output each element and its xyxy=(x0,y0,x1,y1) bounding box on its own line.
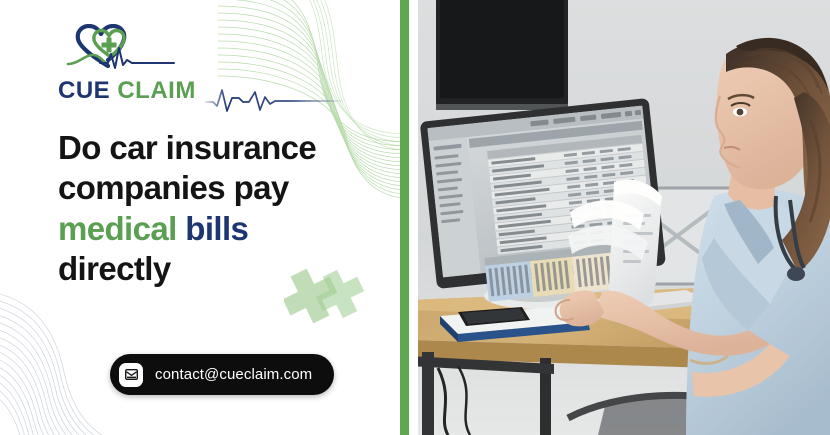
headline-line-1: Do car insurance xyxy=(58,129,316,166)
left-content-panel: CUE CLAIM Do car insurance companies pay… xyxy=(0,0,400,435)
headline-line-2: companies pay xyxy=(58,169,289,206)
green-divider-bar xyxy=(400,0,409,435)
headline: Do car insurance companies pay medical b… xyxy=(58,128,388,289)
headline-highlight-bills: bills xyxy=(185,210,248,247)
contact-email-text: contact@cueclaim.com xyxy=(155,366,312,383)
brand-word-claim: CLAIM xyxy=(117,77,195,104)
envelope-icon xyxy=(119,363,143,387)
heartbeat-line-icon xyxy=(205,80,345,116)
hero-photo xyxy=(418,0,830,435)
headline-line-4: directly xyxy=(58,250,171,287)
heart-cross-ekg-logo-icon xyxy=(66,24,176,70)
brand-logo[interactable]: CUE CLAIM xyxy=(58,24,188,96)
brand-word-cue: CUE xyxy=(58,77,110,104)
marketing-banner: CUE CLAIM Do car insurance companies pay… xyxy=(0,0,830,435)
brand-wordmark: CUE CLAIM xyxy=(58,79,196,103)
headline-highlight-medical: medical xyxy=(58,210,177,247)
contact-email-badge[interactable]: contact@cueclaim.com xyxy=(110,354,334,395)
